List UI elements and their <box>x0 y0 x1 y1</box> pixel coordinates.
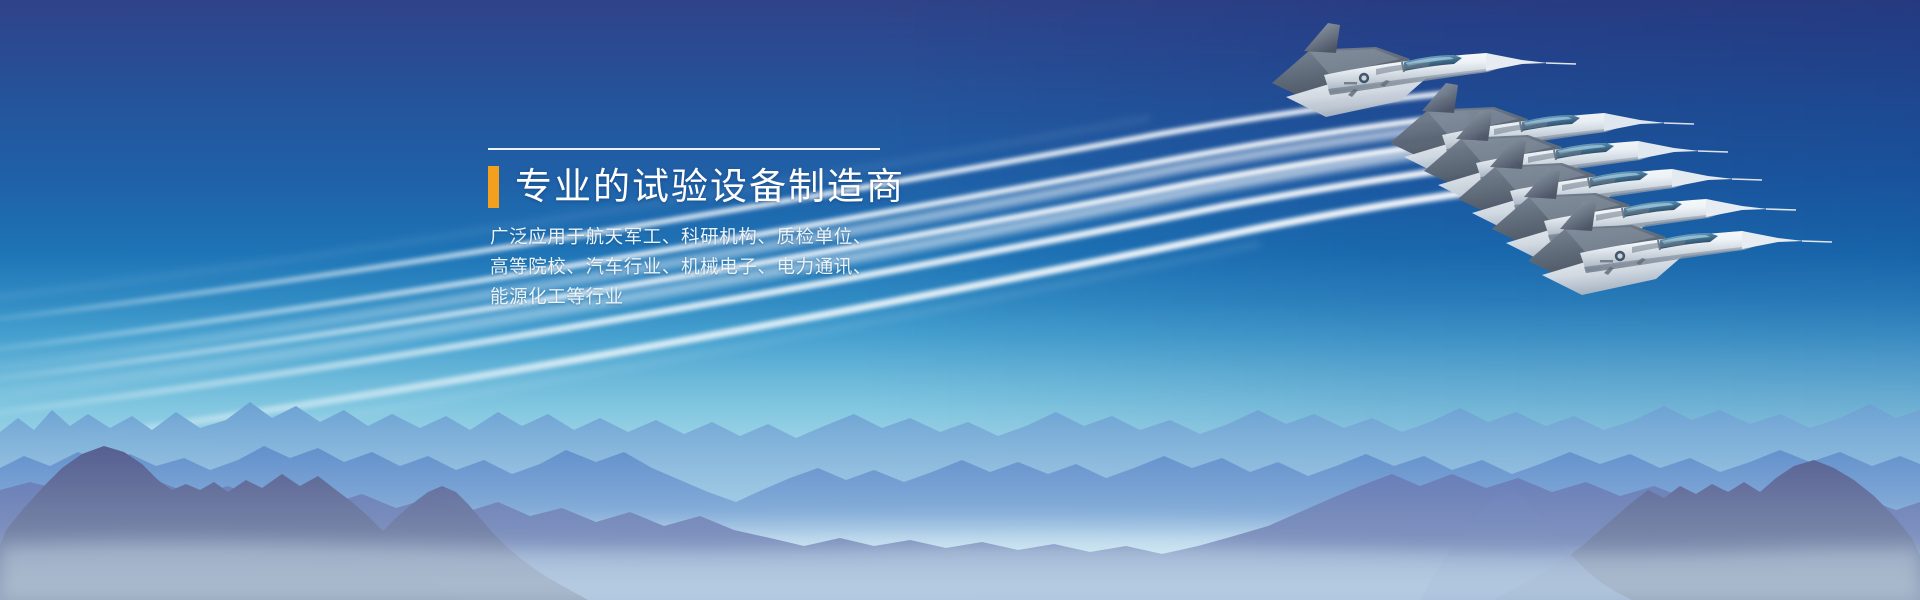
subtitle-line-2: 高等院校、汽车行业、机械电子、电力通讯、 <box>490 252 1008 282</box>
subtitle-line-1: 广泛应用于航天军工、科研机构、质检单位、 <box>490 222 1008 252</box>
subtitle-line-3: 能源化工等行业 <box>490 282 1008 312</box>
headline-divider-rule <box>488 148 880 150</box>
headline-row: 专业的试验设备制造商 <box>488 166 1008 208</box>
orange-accent-bar <box>488 166 499 208</box>
banner-headline: 专业的试验设备制造商 <box>515 166 905 207</box>
hero-banner: 专业的试验设备制造商 广泛应用于航天军工、科研机构、质检单位、 高等院校、汽车行… <box>0 0 1920 600</box>
banner-copy-block: 专业的试验设备制造商 广泛应用于航天军工、科研机构、质检单位、 高等院校、汽车行… <box>488 148 1008 312</box>
banner-subtitle: 广泛应用于航天军工、科研机构、质检单位、 高等院校、汽车行业、机械电子、电力通讯… <box>488 222 1008 312</box>
